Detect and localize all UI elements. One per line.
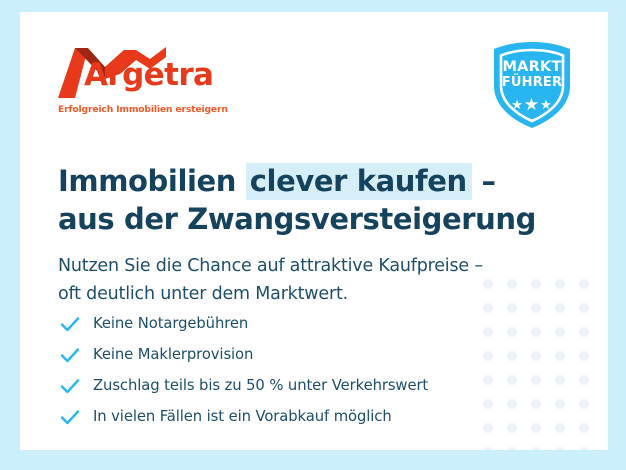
headline-line-2: aus der Zwangsversteigerung [58,202,536,236]
check-icon [59,313,81,335]
list-item: In vielen Fällen ist ein Vorabkauf mögli… [59,401,428,432]
subtitle-line-2: oft deutlich unter dem Marktwert. [58,284,348,304]
headline-prefix: Immobilien [58,164,246,198]
dot [555,447,565,450]
page-subtitle: Nutzen Sie die Chance auf attraktive Kau… [58,252,483,308]
dot [531,327,541,337]
dot [507,351,517,361]
dot [531,279,541,289]
dot-grid-decoration [476,272,596,450]
dot [483,327,493,337]
dot [531,447,541,450]
dot [579,375,589,385]
dot [555,351,565,361]
dot [579,423,589,433]
dot [507,327,517,337]
dot [531,423,541,433]
dot [531,303,541,313]
argetra-logo[interactable]: Argetra Erfolgreich Immobilien ersteiger… [58,46,206,104]
check-icon [59,344,81,366]
dot [507,279,517,289]
markt-fuehrer-badge: MARKT FÜHRER ★★★ [490,40,574,130]
list-item: Keine Maklerprovision [59,339,428,370]
list-item-label: Keine Notargebühren [93,315,248,332]
dot [555,375,565,385]
list-item: Zuschlag teils bis zu 50 % unter Verkehr… [59,370,428,401]
promo-banner: Argetra Erfolgreich Immobilien ersteiger… [0,0,626,470]
dot [483,423,493,433]
headline-suffix: – [472,164,496,198]
dot [555,327,565,337]
dot [579,303,589,313]
dot [507,423,517,433]
dot [507,375,517,385]
dot [531,375,541,385]
dot [531,399,541,409]
list-item-label: Keine Maklerprovision [93,346,253,363]
dot [483,447,493,450]
page-title: Immobilien clever kaufen – aus der Zwang… [58,162,536,238]
subtitle-line-1: Nutzen Sie die Chance auf attraktive Kau… [58,256,483,276]
dot [579,399,589,409]
dot [483,303,493,313]
banner-card: Argetra Erfolgreich Immobilien ersteiger… [20,12,608,450]
dot [555,279,565,289]
dot [555,303,565,313]
headline-highlight: clever kaufen [246,163,472,200]
dot [483,279,493,289]
dot [555,399,565,409]
list-item-label: In vielen Fällen ist ein Vorabkauf mögli… [93,408,392,425]
headline-line-1: Immobilien clever kaufen – [58,163,496,200]
dot [579,279,589,289]
dot [507,399,517,409]
dot [483,375,493,385]
list-item-label: Zuschlag teils bis zu 50 % unter Verkehr… [93,377,428,394]
argetra-tagline: Erfolgreich Immobilien ersteigern [58,104,228,115]
list-item: Keine Notargebühren [59,308,428,339]
dot [555,423,565,433]
dot [579,327,589,337]
dot [483,351,493,361]
benefits-list: Keine Notargebühren Keine Maklerprovisio… [59,308,428,432]
dot [579,351,589,361]
argetra-wordmark: Argetra [84,60,213,91]
dot [531,351,541,361]
shield-icon [490,40,574,130]
dot [579,447,589,450]
dot [507,447,517,450]
check-icon [59,406,81,428]
check-icon [59,375,81,397]
dot [507,303,517,313]
dot [483,399,493,409]
